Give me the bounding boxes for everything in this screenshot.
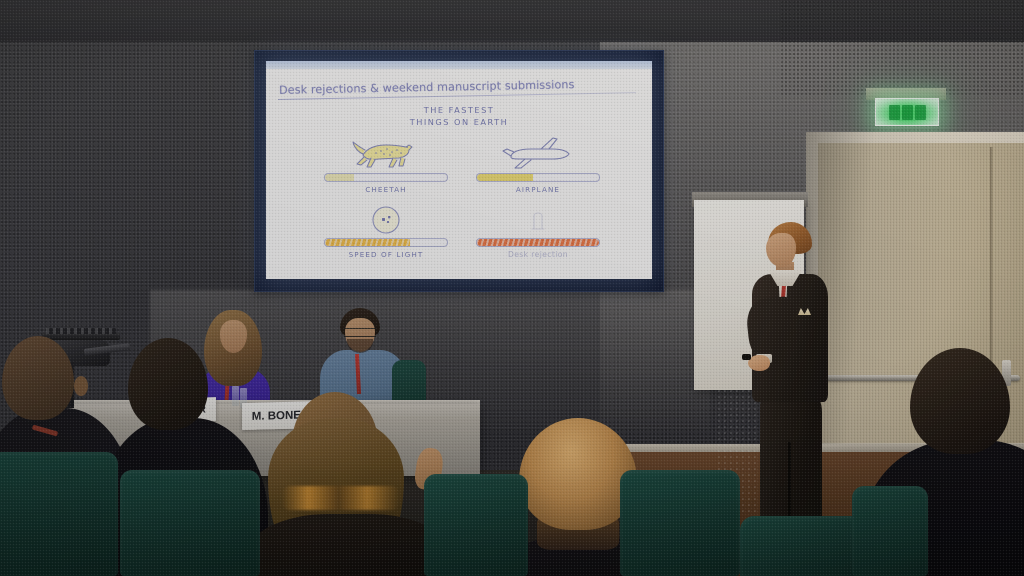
presentation-clicker[interactable] bbox=[742, 354, 751, 360]
presenter-hand bbox=[748, 355, 770, 371]
meter-label-speed-of-light: SPEED OF LIGHT bbox=[349, 250, 424, 259]
audience-member-1-ear bbox=[74, 376, 88, 396]
exit-sign-glyph-left bbox=[889, 105, 900, 120]
slide-row-bottom: SPEED OF LIGHT bbox=[294, 202, 630, 259]
airplane-icon bbox=[501, 131, 575, 173]
emergency-exit-sign bbox=[875, 98, 939, 126]
meter-speed-of-light bbox=[324, 238, 448, 247]
meter-speed-of-light-fill bbox=[325, 239, 410, 246]
presenter-leg-split bbox=[788, 442, 791, 524]
projection-screen-bezel: Desk rejections & weekend manuscript sub… bbox=[254, 50, 664, 292]
slide-row-top: CHEETAH bbox=[294, 131, 630, 194]
slide-top-band bbox=[266, 61, 652, 69]
slide-item-desk-rejection: Desk rejection bbox=[473, 202, 603, 259]
meter-cheetah-fill bbox=[325, 174, 354, 181]
sun-light-bulb-icon bbox=[369, 202, 403, 238]
chair-2 bbox=[120, 470, 260, 576]
slide-meter-grid: CHEETAH bbox=[294, 131, 630, 259]
exit-sign-glyph-mid bbox=[902, 105, 913, 120]
projected-slide: Desk rejections & weekend manuscript sub… bbox=[266, 61, 652, 279]
audience-member-1-head bbox=[2, 336, 74, 420]
chair-5 bbox=[740, 516, 870, 576]
chair-6 bbox=[852, 486, 928, 576]
slide-item-speed-of-light: SPEED OF LIGHT bbox=[321, 202, 451, 259]
slide-item-airplane: AIRPLANE bbox=[473, 131, 603, 194]
meter-desk-rejection bbox=[476, 238, 600, 247]
audience-member-3 bbox=[252, 392, 442, 576]
slide-item-cheetah: CHEETAH bbox=[321, 131, 451, 194]
panelist-man-glasses bbox=[344, 328, 376, 337]
ceiling-right-section bbox=[780, 0, 1024, 96]
audience-member-5-head bbox=[910, 348, 1010, 454]
audience-member-2-head bbox=[128, 338, 208, 430]
faint-doodle-icon bbox=[521, 202, 555, 238]
meter-airplane-fill bbox=[477, 174, 533, 181]
presenter-legs bbox=[760, 394, 822, 524]
meter-label-cheetah: CHEETAH bbox=[365, 185, 406, 194]
audience-member-3-scarf-stripe bbox=[282, 486, 400, 510]
exit-sign-glyph-right bbox=[915, 105, 926, 120]
meter-desk-rejection-fill bbox=[477, 239, 599, 246]
presentation-photo-scene: Desk rejections & weekend manuscript sub… bbox=[0, 0, 1024, 576]
meter-airplane bbox=[476, 173, 600, 182]
presenter-face bbox=[766, 233, 796, 267]
chair-1 bbox=[0, 452, 118, 576]
slide-heading: THE FASTEST THINGS ON EARTH bbox=[266, 105, 652, 129]
meter-label-airplane: AIRPLANE bbox=[516, 185, 560, 194]
slide-heading-line-2: THINGS ON EARTH bbox=[266, 117, 652, 129]
chair-3 bbox=[424, 474, 528, 576]
audience-member-3-body bbox=[246, 514, 452, 576]
slide-heading-line-1: THE FASTEST bbox=[266, 105, 652, 117]
chair-4 bbox=[620, 470, 740, 576]
meter-label-desk-rejection: Desk rejection bbox=[508, 250, 568, 259]
standing-presenter bbox=[740, 222, 860, 522]
meter-cheetah bbox=[324, 173, 448, 182]
cheetah-running-icon bbox=[349, 131, 423, 173]
